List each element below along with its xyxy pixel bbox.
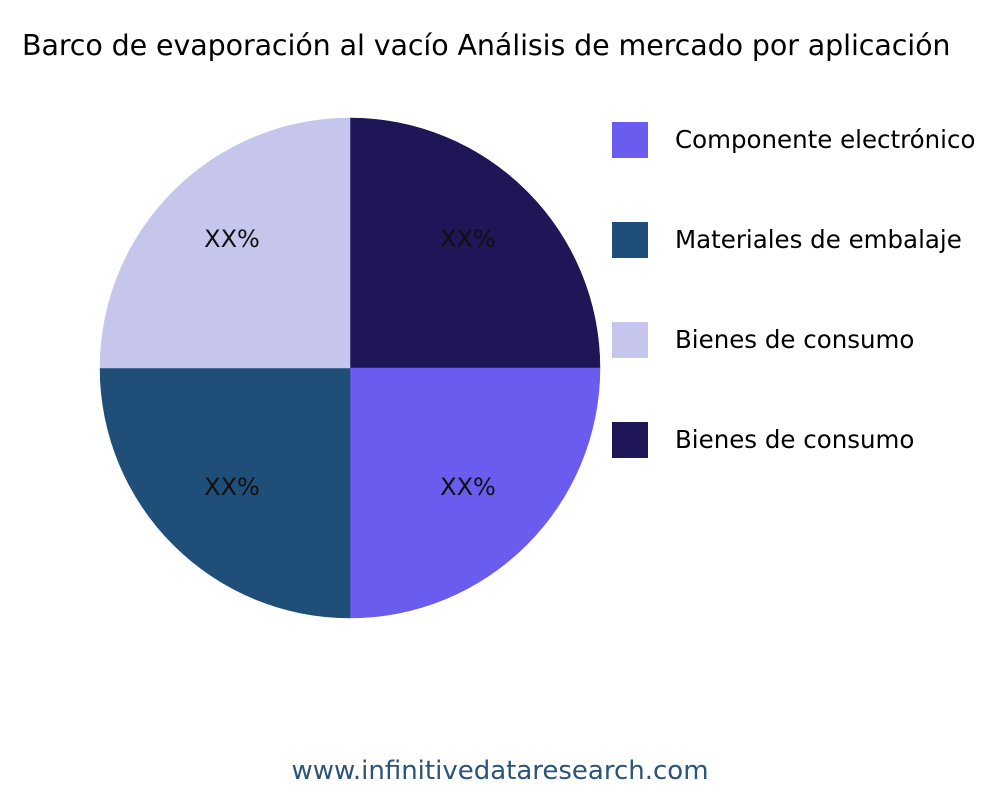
pie-label-top-left: XX% [204, 225, 260, 253]
pie-label-top-right: XX% [440, 225, 496, 253]
source-url-watermark: www.infinitivedataresearch.com [0, 754, 1000, 788]
legend-swatch-icon-2 [612, 322, 648, 358]
legend-swatch-icon-0 [612, 122, 648, 158]
pie-svg: XX% XX% XX% XX% [99, 117, 601, 619]
legend-item-0[interactable]: Componente electrónico [612, 112, 1000, 212]
pie-chart-figure: Barco de evaporación al vacío Análisis d… [0, 0, 1000, 800]
legend-label-2: Bienes de consumo [675, 324, 1000, 356]
page-title: Barco de evaporación al vacío Análisis d… [22, 28, 1000, 64]
legend-label-0: Componente electrónico [675, 124, 1000, 156]
legend-swatch-icon-3 [612, 422, 648, 458]
pie-label-bottom-right: XX% [440, 473, 496, 501]
legend-item-2[interactable]: Bienes de consumo [612, 312, 1000, 412]
pie-chart-plot-area: XX% XX% XX% XX% [99, 117, 601, 619]
legend: Componente electrónico Materiales de emb… [612, 112, 1000, 512]
pie-label-bottom-left: XX% [204, 473, 260, 501]
legend-item-1[interactable]: Materiales de embalaje [612, 212, 1000, 312]
legend-label-3: Bienes de consumo [675, 424, 1000, 456]
legend-label-1: Materiales de embalaje [675, 224, 1000, 256]
legend-item-3[interactable]: Bienes de consumo [612, 412, 1000, 512]
legend-swatch-icon-1 [612, 222, 648, 258]
